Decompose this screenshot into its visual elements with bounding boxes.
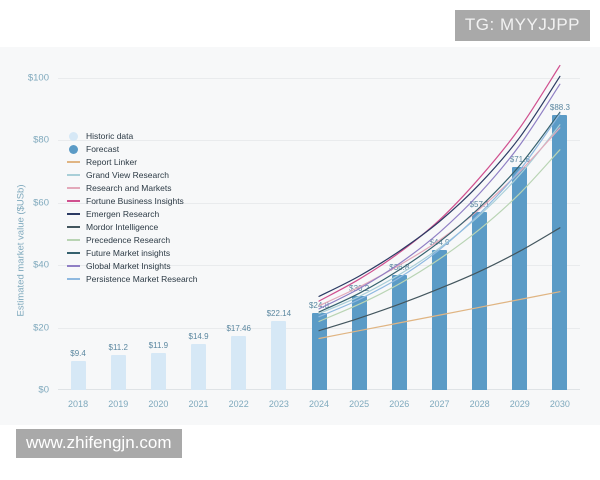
forecast-line[interactable] xyxy=(319,66,560,302)
legend-line-icon xyxy=(66,182,80,194)
legend-swatch-line xyxy=(67,226,80,228)
legend-item[interactable]: Fortune Business Insights xyxy=(66,195,198,207)
legend-item[interactable]: Emergen Research xyxy=(66,208,198,220)
legend-dot-icon xyxy=(66,130,80,142)
legend-item-label: Grand View Research xyxy=(86,170,169,180)
x-axis-tick-label: 2022 xyxy=(229,399,249,409)
x-axis-tick-label: 2024 xyxy=(309,399,329,409)
legend-item[interactable]: Forecast xyxy=(66,143,198,155)
site-watermark: www.zhifengjn.com xyxy=(16,429,182,458)
legend-swatch-line xyxy=(67,174,80,176)
legend-line-icon xyxy=(66,169,80,181)
legend-item-label: Report Linker xyxy=(86,157,137,167)
x-axis-tick-label: 2023 xyxy=(269,399,289,409)
y-axis-tick-label: $20 xyxy=(33,322,49,333)
legend-item-label: Historic data xyxy=(86,131,133,141)
y-axis-tick-label: $80 xyxy=(33,135,49,146)
x-axis-tick-label: 2025 xyxy=(349,399,369,409)
legend-dot-icon xyxy=(66,143,80,155)
legend-line-icon xyxy=(66,208,80,220)
x-axis-tick-label: 2019 xyxy=(108,399,128,409)
legend-line-icon xyxy=(66,234,80,246)
x-axis-tick-label: 2020 xyxy=(148,399,168,409)
forecast-line[interactable] xyxy=(319,114,560,317)
x-axis-tick-label: 2021 xyxy=(189,399,209,409)
legend-item-label: Precedence Research xyxy=(86,235,170,245)
y-axis-tick-label: $40 xyxy=(33,260,49,271)
legend-item-label: Mordor Intelligence xyxy=(86,222,158,232)
forecast-line[interactable] xyxy=(319,128,560,306)
legend-line-icon xyxy=(66,195,80,207)
legend-swatch-line xyxy=(67,161,80,163)
legend-swatch-line xyxy=(67,213,80,215)
legend-swatch-dot xyxy=(69,132,78,141)
telegram-watermark-badge: TG: MYYJJPP xyxy=(455,10,590,41)
legend: Historic dataForecastReport LinkerGrand … xyxy=(66,130,198,285)
y-axis-tick-label: $60 xyxy=(33,197,49,208)
legend-item[interactable]: Grand View Research xyxy=(66,169,198,181)
legend-swatch-line xyxy=(67,252,80,254)
x-axis-tick-label: 2028 xyxy=(470,399,490,409)
y-axis-title-text: Estimated market value ($USb) xyxy=(16,184,27,316)
legend-line-icon xyxy=(66,273,80,285)
legend-swatch-line xyxy=(67,239,80,241)
legend-item[interactable]: Report Linker xyxy=(66,156,198,168)
forecast-line[interactable] xyxy=(319,84,560,309)
y-axis-tick-label: $0 xyxy=(38,385,49,396)
x-axis-tick-label: 2030 xyxy=(550,399,570,409)
legend-item-label: Research and Markets xyxy=(86,183,172,193)
legend-item[interactable]: Precedence Research xyxy=(66,234,198,246)
y-axis-tick-label: $100 xyxy=(28,73,49,84)
legend-item-label: Global Market Insights xyxy=(86,261,171,271)
x-axis-tick-label: 2027 xyxy=(429,399,449,409)
forecast-line[interactable] xyxy=(319,125,560,314)
x-axis-tick-label: 2029 xyxy=(510,399,530,409)
legend-line-icon xyxy=(66,247,80,259)
y-axis-title: Estimated market value ($USb) xyxy=(14,94,28,406)
legend-swatch-dot xyxy=(69,145,78,154)
chart-card: Estimated market value ($USb) $0$20$40$6… xyxy=(0,47,600,425)
legend-swatch-line xyxy=(67,187,80,189)
legend-item[interactable]: Future Market insights xyxy=(66,247,198,259)
legend-item-label: Future Market insights xyxy=(86,248,170,258)
legend-line-icon xyxy=(66,221,80,233)
x-axis-tick-label: 2018 xyxy=(68,399,88,409)
legend-item-label: Persistence Market Research xyxy=(86,274,198,284)
forecast-line[interactable] xyxy=(319,76,560,296)
legend-item-label: Fortune Business Insights xyxy=(86,196,184,206)
legend-item[interactable]: Mordor Intelligence xyxy=(66,221,198,233)
legend-swatch-line xyxy=(67,278,80,280)
legend-item[interactable]: Persistence Market Research xyxy=(66,273,198,285)
legend-line-icon xyxy=(66,260,80,272)
x-axis-tick-label: 2026 xyxy=(389,399,409,409)
legend-item-label: Emergen Research xyxy=(86,209,159,219)
legend-swatch-line xyxy=(67,200,80,202)
legend-line-icon xyxy=(66,156,80,168)
legend-item-label: Forecast xyxy=(86,144,119,154)
legend-swatch-line xyxy=(67,265,80,267)
legend-item[interactable]: Research and Markets xyxy=(66,182,198,194)
legend-item[interactable]: Historic data xyxy=(66,130,198,142)
legend-item[interactable]: Global Market Insights xyxy=(66,260,198,272)
